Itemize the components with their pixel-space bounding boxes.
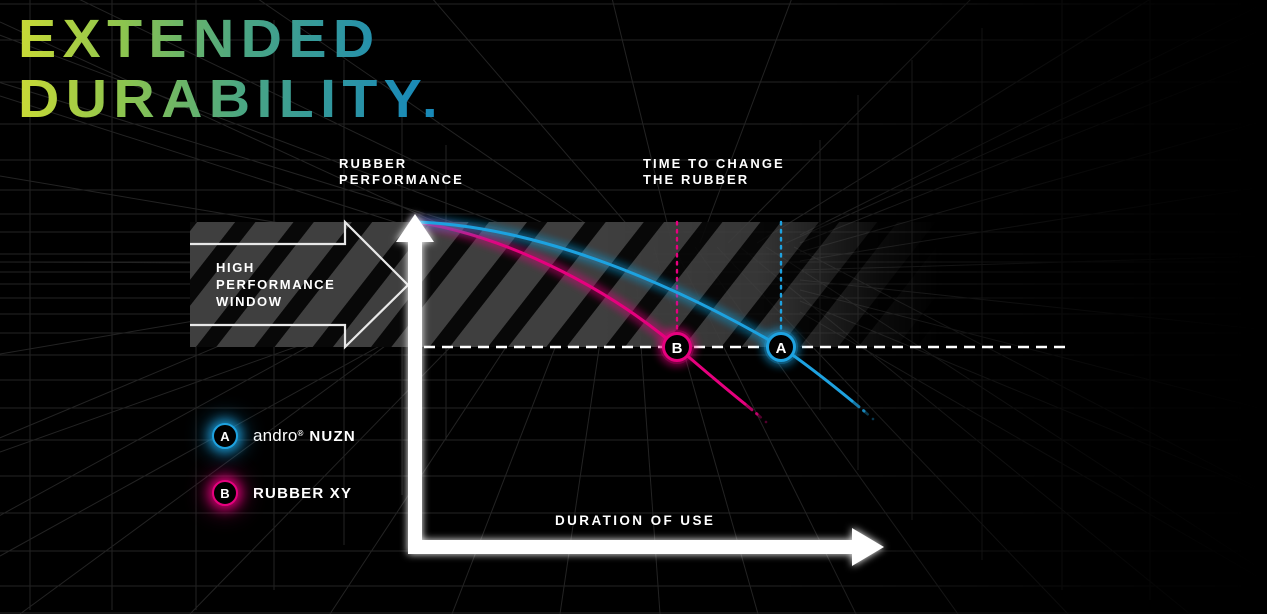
threshold-label: TIME TO CHANGE THE RUBBER [643, 156, 785, 188]
y-axis-label: RUBBER PERFORMANCE [339, 156, 464, 188]
headline-line-2: DURABILITY. [18, 72, 675, 126]
legend-item-a[interactable]: A andro®NUZN [212, 418, 356, 454]
right-wall-grid [800, 0, 1267, 600]
legend-label-a: andro®NUZN [253, 426, 356, 446]
legend-badge-a: A [212, 423, 238, 449]
data-marker-b[interactable]: B [660, 330, 694, 364]
svg-text:A: A [776, 340, 787, 357]
legend-model-b: RUBBER XY [253, 485, 352, 502]
registered-trademark-icon: ® [297, 429, 303, 438]
legend-label-b: RUBBER XY [253, 485, 352, 502]
svg-text:B: B [672, 340, 683, 357]
high-performance-window-label: HIGH PERFORMANCE WINDOW [216, 259, 335, 310]
x-axis-label: DURATION OF USE [555, 513, 715, 529]
page-title: EXTENDED DURABILITY. [18, 12, 638, 132]
legend-brand-a: andro [253, 426, 297, 446]
infographic-canvas: EXTENDED DURABILITY. [0, 0, 1267, 614]
data-marker-a[interactable]: A [764, 330, 798, 364]
series-curve-rubber-xy [416, 222, 766, 422]
chart-legend: A andro®NUZN B RUBBER XY [212, 418, 356, 532]
headline-line-1: EXTENDED [18, 12, 675, 66]
series-curve-andro-nuzn [416, 222, 873, 419]
legend-model-a: NUZN [309, 428, 355, 445]
legend-item-b[interactable]: B RUBBER XY [212, 475, 356, 511]
floor-grid [0, 247, 1267, 614]
legend-badge-b: B [212, 480, 238, 506]
